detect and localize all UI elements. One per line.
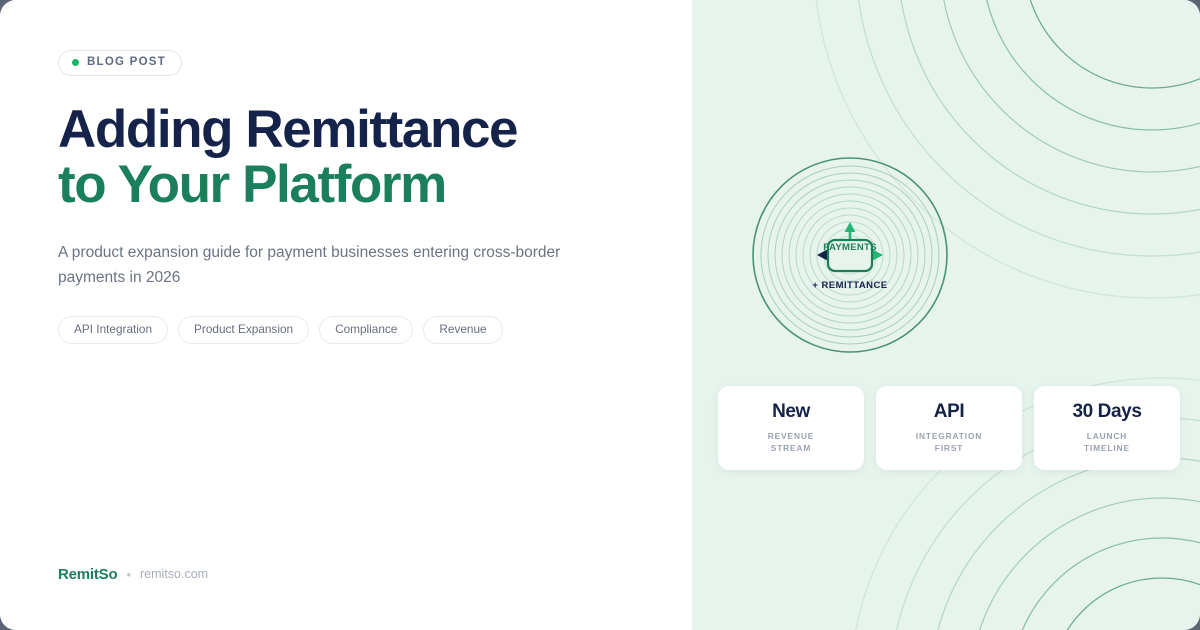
left-content-panel: BLOG POST Adding Remittance to Your Plat… (0, 0, 692, 630)
stat-label: LAUNCH TIMELINE (1084, 430, 1130, 455)
payments-core-box (828, 240, 872, 271)
stat-label: REVENUE STREAM (768, 430, 814, 455)
hero-diagram-svg (750, 155, 950, 355)
stat-value: New (772, 402, 810, 423)
footer-separator: • (126, 568, 131, 581)
right-visual-panel: PAYMENTS + REMITTANCE New REVENUE STREAM… (692, 0, 1200, 630)
status-badge: BLOG POST (58, 50, 182, 76)
footer: RemitSo • remitso.com (58, 567, 208, 582)
footer-url[interactable]: remitso.com (140, 568, 208, 581)
tag-product-expansion[interactable]: Product Expansion (178, 316, 309, 344)
stat-card-api-integration: API INTEGRATION FIRST (876, 386, 1022, 470)
social-share-card: BLOG POST Adding Remittance to Your Plat… (0, 0, 1200, 630)
page-title-line-1: Adding Remittance (58, 102, 634, 157)
tag-api-integration[interactable]: API Integration (58, 316, 168, 344)
stat-value: API (934, 402, 964, 423)
remittance-sub-label: + REMITTANCE (750, 280, 950, 291)
tag-revenue[interactable]: Revenue (423, 316, 502, 344)
page-title-line-2: to Your Platform (58, 157, 634, 212)
stat-card-launch-timeline: 30 Days LAUNCH TIMELINE (1034, 386, 1180, 470)
stat-card-list: New REVENUE STREAM API INTEGRATION FIRST… (718, 386, 1180, 470)
hero-diagram: PAYMENTS + REMITTANCE (750, 155, 950, 355)
page-subtitle: A product expansion guide for payment bu… (58, 240, 570, 290)
badge-label: BLOG POST (87, 57, 166, 69)
badge-dot-icon (72, 59, 79, 66)
brand-name: RemitSo (58, 567, 117, 582)
stat-card-revenue-stream: New REVENUE STREAM (718, 386, 864, 470)
tag-list: API Integration Product Expansion Compli… (58, 316, 634, 344)
page-title: Adding Remittance to Your Platform (58, 102, 634, 212)
stat-label: INTEGRATION FIRST (916, 430, 982, 455)
stat-value: 30 Days (1072, 402, 1141, 423)
tag-compliance[interactable]: Compliance (319, 316, 413, 344)
